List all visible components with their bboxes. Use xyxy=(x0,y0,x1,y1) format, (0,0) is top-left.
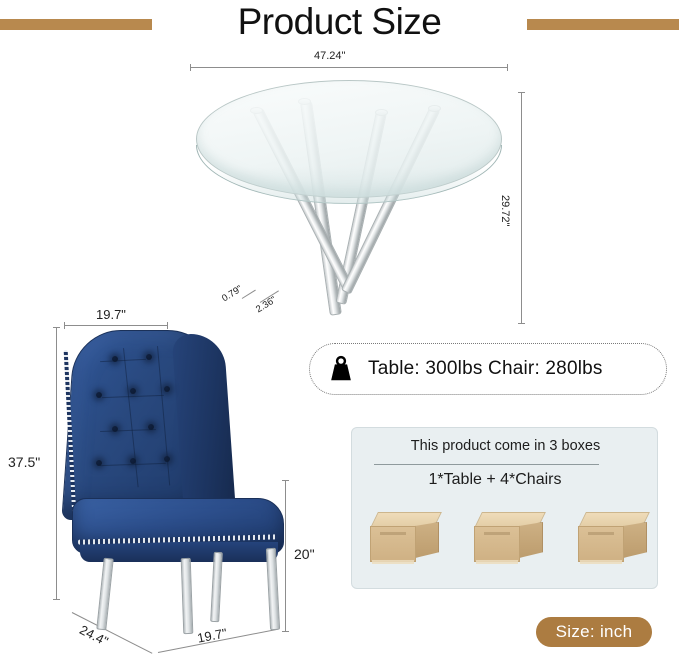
chair-top-width-tick-left xyxy=(64,322,65,329)
cardboard-box-icon xyxy=(578,512,650,564)
size-unit-label: Size: inch xyxy=(556,622,633,642)
chair-height-tick-top xyxy=(53,327,60,328)
cardboard-box-icon xyxy=(474,512,546,564)
table-width-tick-right xyxy=(507,64,508,71)
size-unit-badge: Size: inch xyxy=(536,617,652,647)
chair-top-width-tick-right xyxy=(167,322,168,329)
packaging-title: This product come in 3 boxes xyxy=(352,438,659,454)
chair-body xyxy=(60,330,290,630)
chair-leg-back-left xyxy=(210,552,223,622)
weight-capacity-badge: Table: 300lbs Chair: 280lbs xyxy=(309,343,667,395)
chair-height-dimension-line xyxy=(56,327,57,600)
table-width-dimension-line xyxy=(190,67,508,68)
packaging-panel: This product come in 3 boxes 1*Table + 4… xyxy=(351,427,658,589)
table-height-dimension-line xyxy=(521,92,522,324)
table-width-tick-left xyxy=(190,64,191,71)
chair-height-tick-bottom xyxy=(53,599,60,600)
chair-tuft-button xyxy=(164,386,170,392)
table-height-label: 29.72" xyxy=(499,195,511,226)
chair-leg-back-right xyxy=(266,548,280,630)
chair-leg-front-right xyxy=(181,558,194,634)
packaging-subtitle: 1*Table + 4*Chairs xyxy=(352,471,638,489)
chair-seat-height-label: 20" xyxy=(294,546,315,562)
chair-tuft-button xyxy=(130,388,136,394)
cardboard-box-icon xyxy=(370,512,442,564)
chair-leg-front-left xyxy=(96,558,113,631)
header: Product Size xyxy=(0,0,679,48)
packaging-box-row xyxy=(370,506,650,564)
weight-capacity-text: Table: 300lbs Chair: 280lbs xyxy=(368,358,603,380)
table-height-tick-bottom xyxy=(518,323,525,324)
chair-tuft-button xyxy=(146,354,152,360)
chair-seat-height-tick-bottom xyxy=(282,631,289,632)
chair-illustration: 19.7" 37.5" 20" 24.4" 19.7" xyxy=(0,296,330,660)
packaging-divider xyxy=(374,464,599,465)
chair-top-width-label: 19.7" xyxy=(96,307,126,322)
weight-icon xyxy=(326,354,356,384)
table-width-label: 47.24" xyxy=(314,50,345,62)
product-size-infographic: Product Size 47.24" 29.72" 0.79" 2.36" xyxy=(0,0,679,660)
table-height-tick-top xyxy=(518,92,525,93)
chair-height-label: 37.5" xyxy=(8,454,40,470)
chair-top-width-dimension-line xyxy=(64,325,168,326)
page-title: Product Size xyxy=(0,0,679,44)
